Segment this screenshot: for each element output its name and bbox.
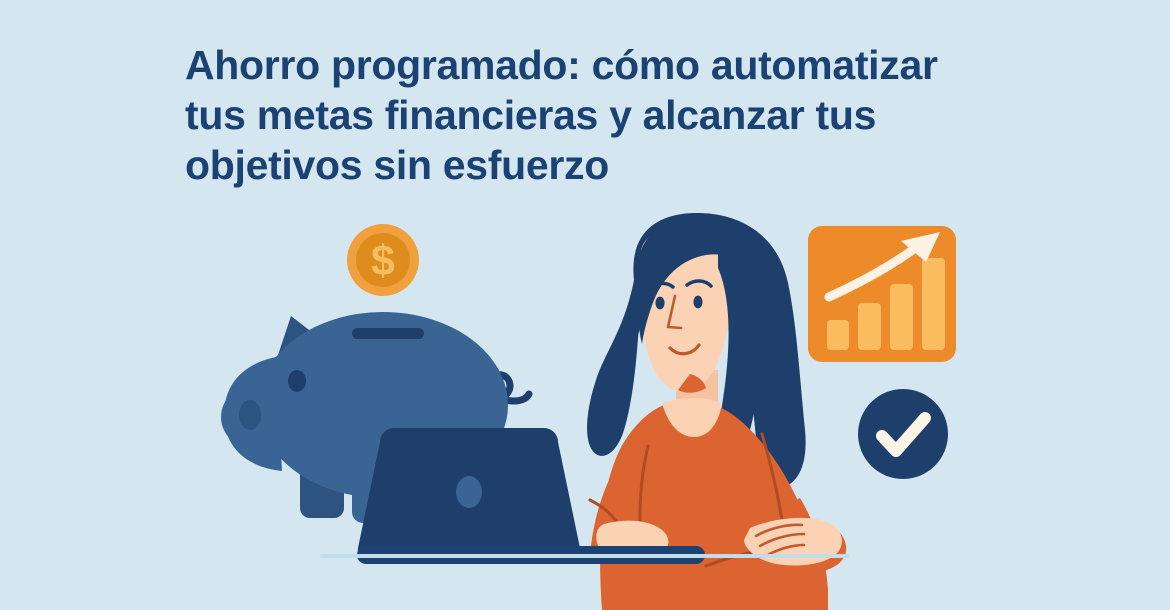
dollar-coin-icon: $ — [347, 224, 419, 296]
check-circle-icon — [858, 389, 948, 479]
desk-line — [320, 554, 850, 558]
laptop-logo — [456, 476, 482, 508]
hero-illustration: $ — [0, 0, 1170, 610]
svg-text:$: $ — [371, 237, 395, 285]
banner-canvas: Ahorro programado: cómo automatizar tus … — [0, 0, 1170, 610]
growth-chart-icon — [808, 226, 956, 362]
